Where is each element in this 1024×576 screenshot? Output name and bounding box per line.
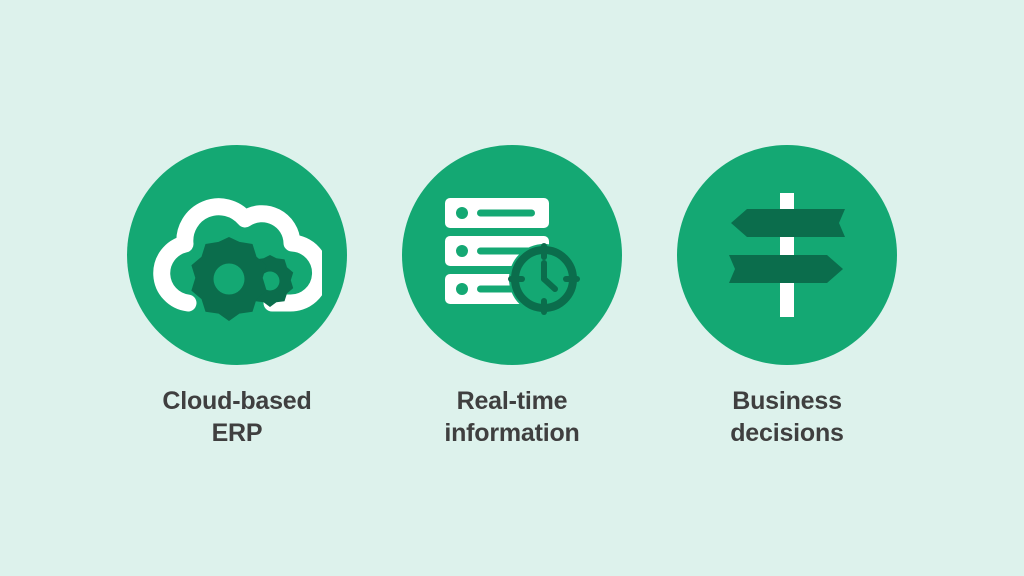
cloud-gears-icon: [152, 185, 322, 325]
feature-label-line-1: Cloud-based: [162, 385, 311, 417]
icon-circle-business-decisions: [677, 145, 897, 365]
feature-item-real-time-information[interactable]: Real-time information: [402, 145, 622, 449]
server-clock-icon: [437, 190, 587, 320]
feature-label-line-1: Real-time: [444, 385, 579, 417]
feature-label-business-decisions: Business decisions: [730, 385, 844, 449]
feature-item-business-decisions[interactable]: Business decisions: [677, 145, 897, 449]
feature-label-line-1: Business: [730, 385, 844, 417]
icon-circle-real-time-information: [402, 145, 622, 365]
icon-circle-cloud-based-erp: [127, 145, 347, 365]
feature-label-cloud-based-erp: Cloud-based ERP: [162, 385, 311, 449]
feature-item-cloud-based-erp[interactable]: Cloud-based ERP: [127, 145, 347, 449]
slide-canvas: Cloud-based ERP: [0, 0, 1024, 576]
feature-label-line-2: decisions: [730, 417, 844, 449]
feature-label-real-time-information: Real-time information: [444, 385, 579, 449]
signpost-icon: [717, 185, 857, 325]
feature-label-line-2: information: [444, 417, 579, 449]
feature-row: Cloud-based ERP: [0, 145, 1024, 449]
feature-label-line-2: ERP: [162, 417, 311, 449]
